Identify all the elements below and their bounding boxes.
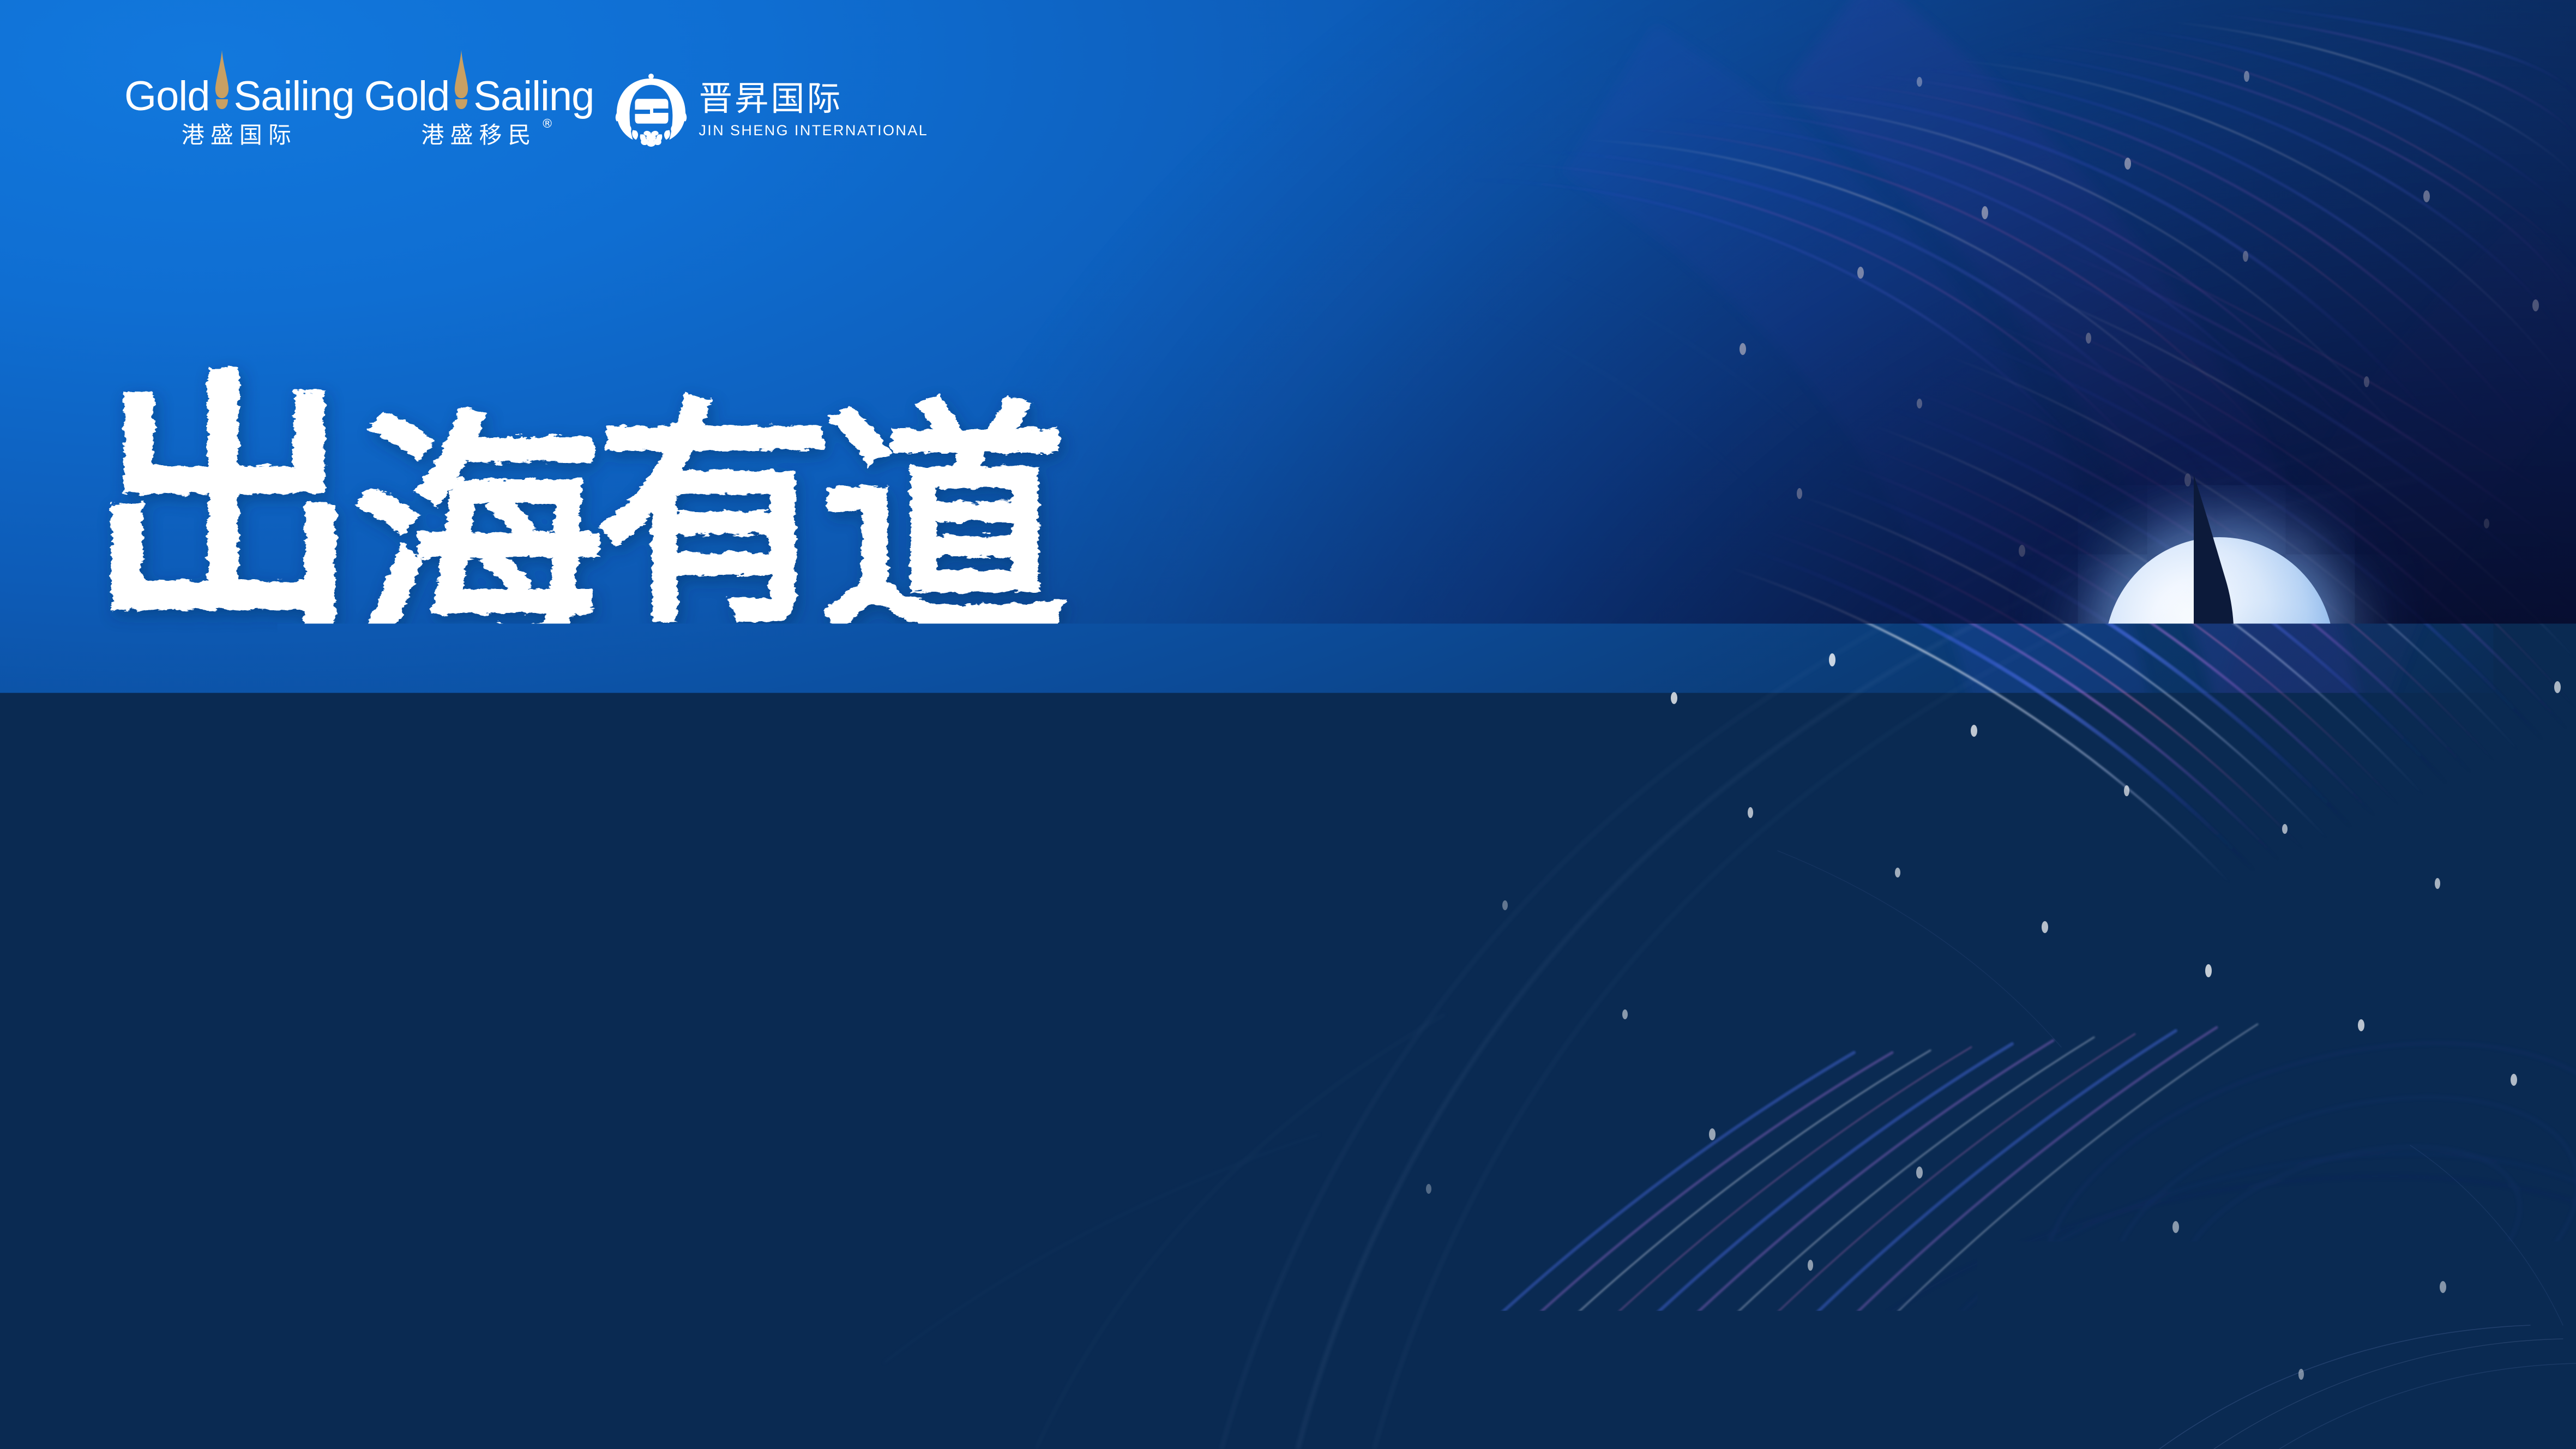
- logo-chinese-name: 港盛国际: [182, 124, 297, 147]
- sailboat-silhouette-icon: [2129, 472, 2282, 810]
- calligraphy-char: 海: [349, 387, 605, 688]
- logo-bar: Gold Sailing 港盛国际 Gold: [124, 69, 928, 147]
- calligraphy-line-2: 合 规 护 航: [376, 654, 1303, 982]
- logo-gold-sailing-international[interactable]: Gold Sailing 港盛国际: [124, 69, 354, 147]
- logo-jin-sheng-international[interactable]: 晋昇国际 JIN SHENG INTERNATIONAL: [613, 72, 928, 147]
- event-poster: Gold Sailing 港盛国际 Gold: [0, 0, 2576, 1449]
- gold-sail-icon: [450, 69, 472, 110]
- gold-sail-icon: [211, 69, 233, 110]
- subtitle-chinese-text: 港盛国际百企跨境税筹训战营-上海站: [507, 998, 1850, 1092]
- calligraphy-char: 航: [1074, 696, 1303, 965]
- gold-sailing-wordmark: Gold Sailing: [124, 69, 354, 117]
- subtitle-block: 2021港盛国际百企跨境税筹训战营-上海站 2021 Gangsheng int…: [0, 1005, 2576, 1136]
- wordmark-gold: Gold: [124, 76, 210, 117]
- registered-trademark-icon: ®: [541, 118, 553, 130]
- gold-sailing-wordmark: Gold Sailing: [364, 69, 594, 117]
- wordmark-gold: Gold: [364, 76, 450, 117]
- calligraphy-char: 出: [87, 344, 360, 664]
- subtitle-year: 2021: [278, 998, 507, 1092]
- wordmark-sailing: Sailing: [234, 76, 354, 117]
- calligraphy-char: 规: [611, 686, 845, 961]
- partner-chinese-name: 晋昇国际: [699, 82, 928, 116]
- calligraphy-char: 合: [376, 681, 633, 982]
- calligraphy-char: 护: [834, 654, 1091, 955]
- hero-calligraphy-title: 出 海 有 道 合 规 护 航: [0, 305, 1745, 976]
- partner-english-name: JIN SHENG INTERNATIONAL: [699, 123, 928, 138]
- calligraphy-char: 道: [818, 376, 1069, 670]
- logo-chinese-name: 港盛移民®: [422, 124, 537, 147]
- calligraphy-line-1: 出 海 有 道: [87, 344, 1069, 688]
- logo-chinese-text: 港盛移民: [422, 122, 537, 148]
- wordmark-sailing: Sailing: [473, 76, 594, 117]
- laurel-wreath-s-monogram-icon: [613, 72, 689, 147]
- subtitle-chinese: 2021港盛国际百企跨境税筹训战营-上海站: [278, 1005, 2576, 1085]
- calligraphy-char: 有: [594, 375, 834, 657]
- subtitle-english: 2021 Gangsheng international 100 enterpr…: [278, 1102, 2116, 1136]
- logo-gold-sailing-immigration[interactable]: Gold Sailing 港盛移民®: [364, 69, 594, 147]
